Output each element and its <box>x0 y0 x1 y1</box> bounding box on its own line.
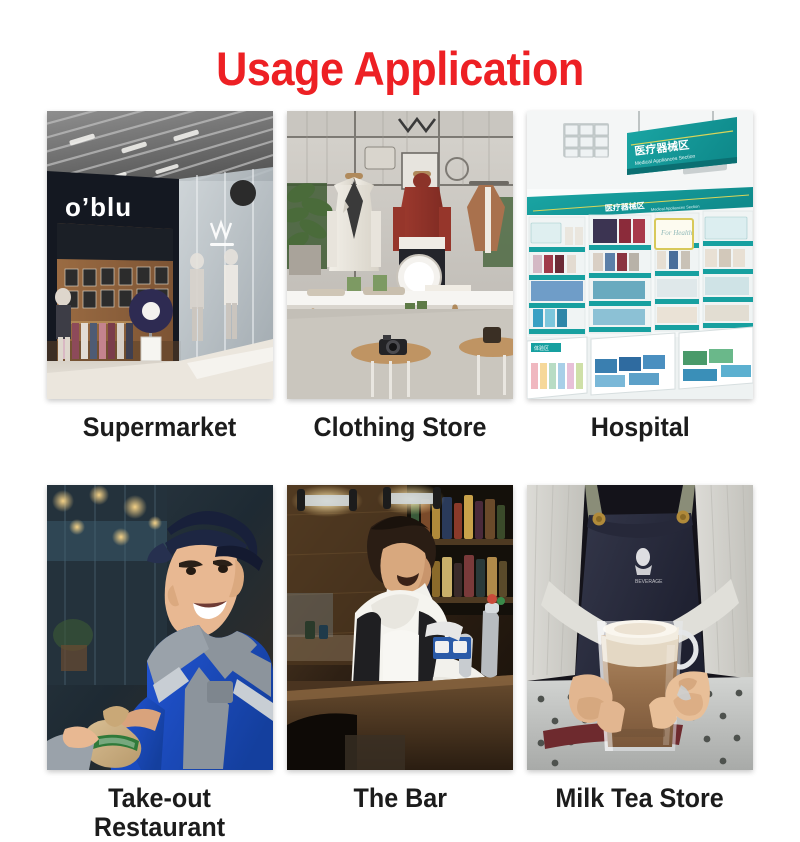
page-title: Usage Application <box>32 31 768 92</box>
caption-the-bar: The Bar <box>353 784 446 812</box>
svg-text:For Health: For Health <box>660 229 693 237</box>
usage-cell-milk-tea-store: BEVERAGE <box>527 485 753 840</box>
svg-text:BEVERAGE: BEVERAGE <box>635 579 663 585</box>
usage-cell-supermarket: o’blu <box>47 111 273 441</box>
caption-takeout-restaurant: Take-out Restaurant <box>94 784 225 840</box>
caption-supermarket: Supermarket <box>83 413 237 441</box>
svg-text:体验区: 体验区 <box>534 345 549 352</box>
usage-cell-clothing-store: Clothing Store <box>287 111 513 441</box>
milk-tea-store-photo: BEVERAGE <box>527 485 753 770</box>
usage-cell-the-bar: The Bar <box>287 485 513 840</box>
caption-clothing-store: Clothing Store <box>314 413 487 441</box>
usage-application-grid: o’blu <box>47 111 753 441</box>
usage-cell-hospital: 医疗器械区 Medical Appliances Section 医疗器械区 M… <box>527 111 753 441</box>
usage-application-grid-row2: Take-out Restaurant <box>47 485 753 840</box>
takeout-delivery-photo <box>47 485 273 770</box>
supermarket-storefront-photo: o’blu <box>47 111 273 399</box>
caption-hospital: Hospital <box>590 413 689 441</box>
svg-text:o’blu: o’blu <box>65 192 132 222</box>
bar-bartender-photo <box>287 485 513 770</box>
caption-milk-tea-store: Milk Tea Store <box>556 784 724 812</box>
hospital-pharmacy-photo: 医疗器械区 Medical Appliances Section 医疗器械区 M… <box>527 111 753 399</box>
usage-cell-takeout-restaurant: Take-out Restaurant <box>47 485 273 840</box>
clothing-store-photo <box>287 111 513 399</box>
